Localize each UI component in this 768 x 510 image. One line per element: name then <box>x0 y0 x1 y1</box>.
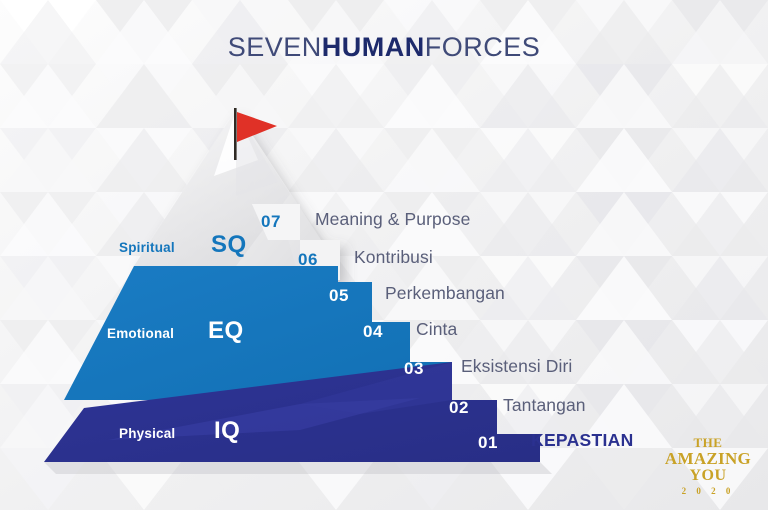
tier-abbr-iq: IQ <box>214 419 240 443</box>
logo-line-year: 2 0 2 0 <box>662 487 754 496</box>
logo-line-amazing: AMAZING <box>662 450 754 467</box>
force-number-05: 05 <box>329 287 349 304</box>
force-label-meaning-purpose: Meaning & Purpose <box>315 211 470 229</box>
logo-line-the: THE <box>662 436 754 449</box>
tier-abbr-eq: EQ <box>208 319 244 343</box>
tier-abbr-sq: SQ <box>211 233 247 257</box>
brand-logo: THE AMAZING YOU 2 0 2 0 <box>662 436 754 496</box>
force-number-07: 07 <box>261 213 281 230</box>
force-label-eksistensi-diri: Eksistensi Diri <box>461 358 572 376</box>
tier-label-spiritual: Spiritual <box>119 241 175 255</box>
force-number-02: 02 <box>449 399 469 416</box>
infographic-canvas: SEVENHUMANFORCES <box>0 0 768 510</box>
tier-label-emotional: Emotional <box>107 327 174 341</box>
force-number-06: 06 <box>298 251 318 268</box>
force-label-kepastian: KEPASTIAN <box>531 432 634 450</box>
force-label-kontribusi: Kontribusi <box>354 249 433 267</box>
force-number-04: 04 <box>363 323 383 340</box>
force-label-perkembangan: Perkembangan <box>385 285 505 303</box>
force-label-cinta: Cinta <box>416 321 457 339</box>
force-number-01: 01 <box>478 434 498 451</box>
force-label-tantangan: Tantangan <box>503 397 586 415</box>
force-number-03: 03 <box>404 360 424 377</box>
logo-line-you: YOU <box>662 468 754 484</box>
tier-label-physical: Physical <box>119 427 175 441</box>
